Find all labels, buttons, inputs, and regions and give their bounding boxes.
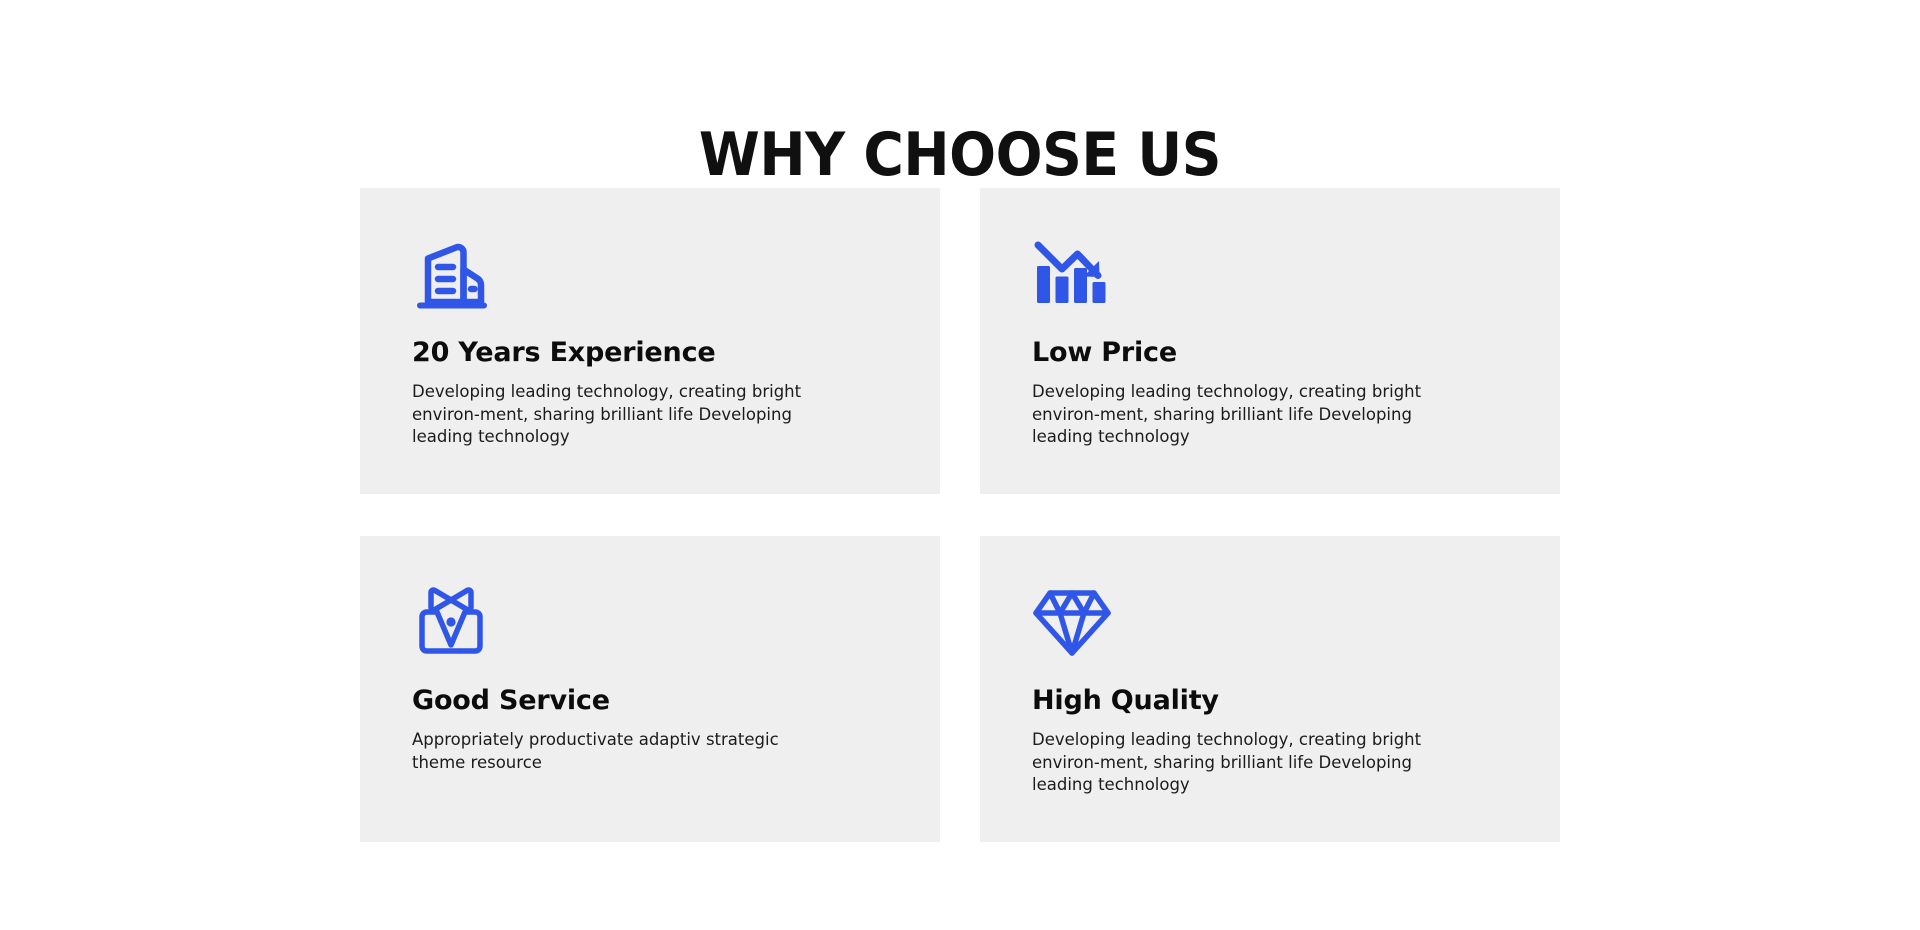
page-title: WHY CHOOSE US [77,122,1843,188]
feature-card-20-years-experience[interactable]: 20 Years Experience Developing leading t… [360,188,940,494]
feature-cards-grid: 20 Years Experience Developing leading t… [360,188,1560,842]
why-choose-us-section: WHY CHOOSE US 20 Years Experience Develo… [0,0,1920,930]
declining-bar-chart-icon [1032,233,1508,311]
feature-card-title: 20 Years Experience [412,337,888,369]
diamond-icon [1032,581,1508,659]
feature-card-description: Developing leading technology, creating … [1032,729,1452,797]
feature-card-title: High Quality [1032,685,1508,717]
feature-card-title: Low Price [1032,337,1508,369]
feature-card-good-service[interactable]: Good Service Appropriately productivate … [360,536,940,842]
tuxedo-bowtie-icon [412,581,888,659]
feature-card-description: Appropriately productivate adaptiv strat… [412,729,832,774]
feature-card-low-price[interactable]: Low Price Developing leading technology,… [980,188,1560,494]
feature-card-description: Developing leading technology, creating … [412,381,832,449]
building-icon [412,233,888,311]
feature-card-title: Good Service [412,685,888,717]
feature-card-high-quality[interactable]: High Quality Developing leading technolo… [980,536,1560,842]
feature-card-description: Developing leading technology, creating … [1032,381,1452,449]
